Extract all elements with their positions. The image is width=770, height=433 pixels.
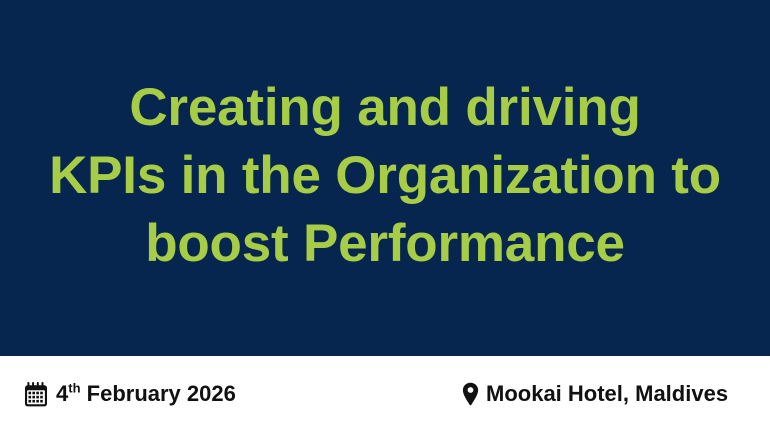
footer-bar: 4th February 2026 Mookai Hotel, Maldives bbox=[0, 356, 770, 433]
event-title-slide: Creating and driving KPIs in the Organiz… bbox=[0, 0, 770, 433]
title-line-1: Creating and driving bbox=[15, 74, 755, 142]
title-line-2: KPIs in the Organization to bbox=[15, 142, 755, 210]
location-pin-icon bbox=[462, 382, 479, 407]
event-date-ordinal: th bbox=[68, 381, 80, 396]
event-date-rest: February 2026 bbox=[81, 381, 236, 406]
event-date-day: 4 bbox=[56, 381, 68, 406]
calendar-icon bbox=[24, 382, 48, 407]
event-title: Creating and driving KPIs in the Organiz… bbox=[15, 74, 755, 282]
hero-panel: Creating and driving KPIs in the Organiz… bbox=[0, 0, 770, 356]
title-line-3: boost Performance bbox=[15, 210, 755, 278]
event-date-text: 4th February 2026 bbox=[56, 381, 236, 407]
event-date: 4th February 2026 bbox=[24, 381, 236, 407]
event-venue: Mookai Hotel, Maldives bbox=[462, 381, 728, 407]
event-venue-text: Mookai Hotel, Maldives bbox=[486, 381, 728, 407]
